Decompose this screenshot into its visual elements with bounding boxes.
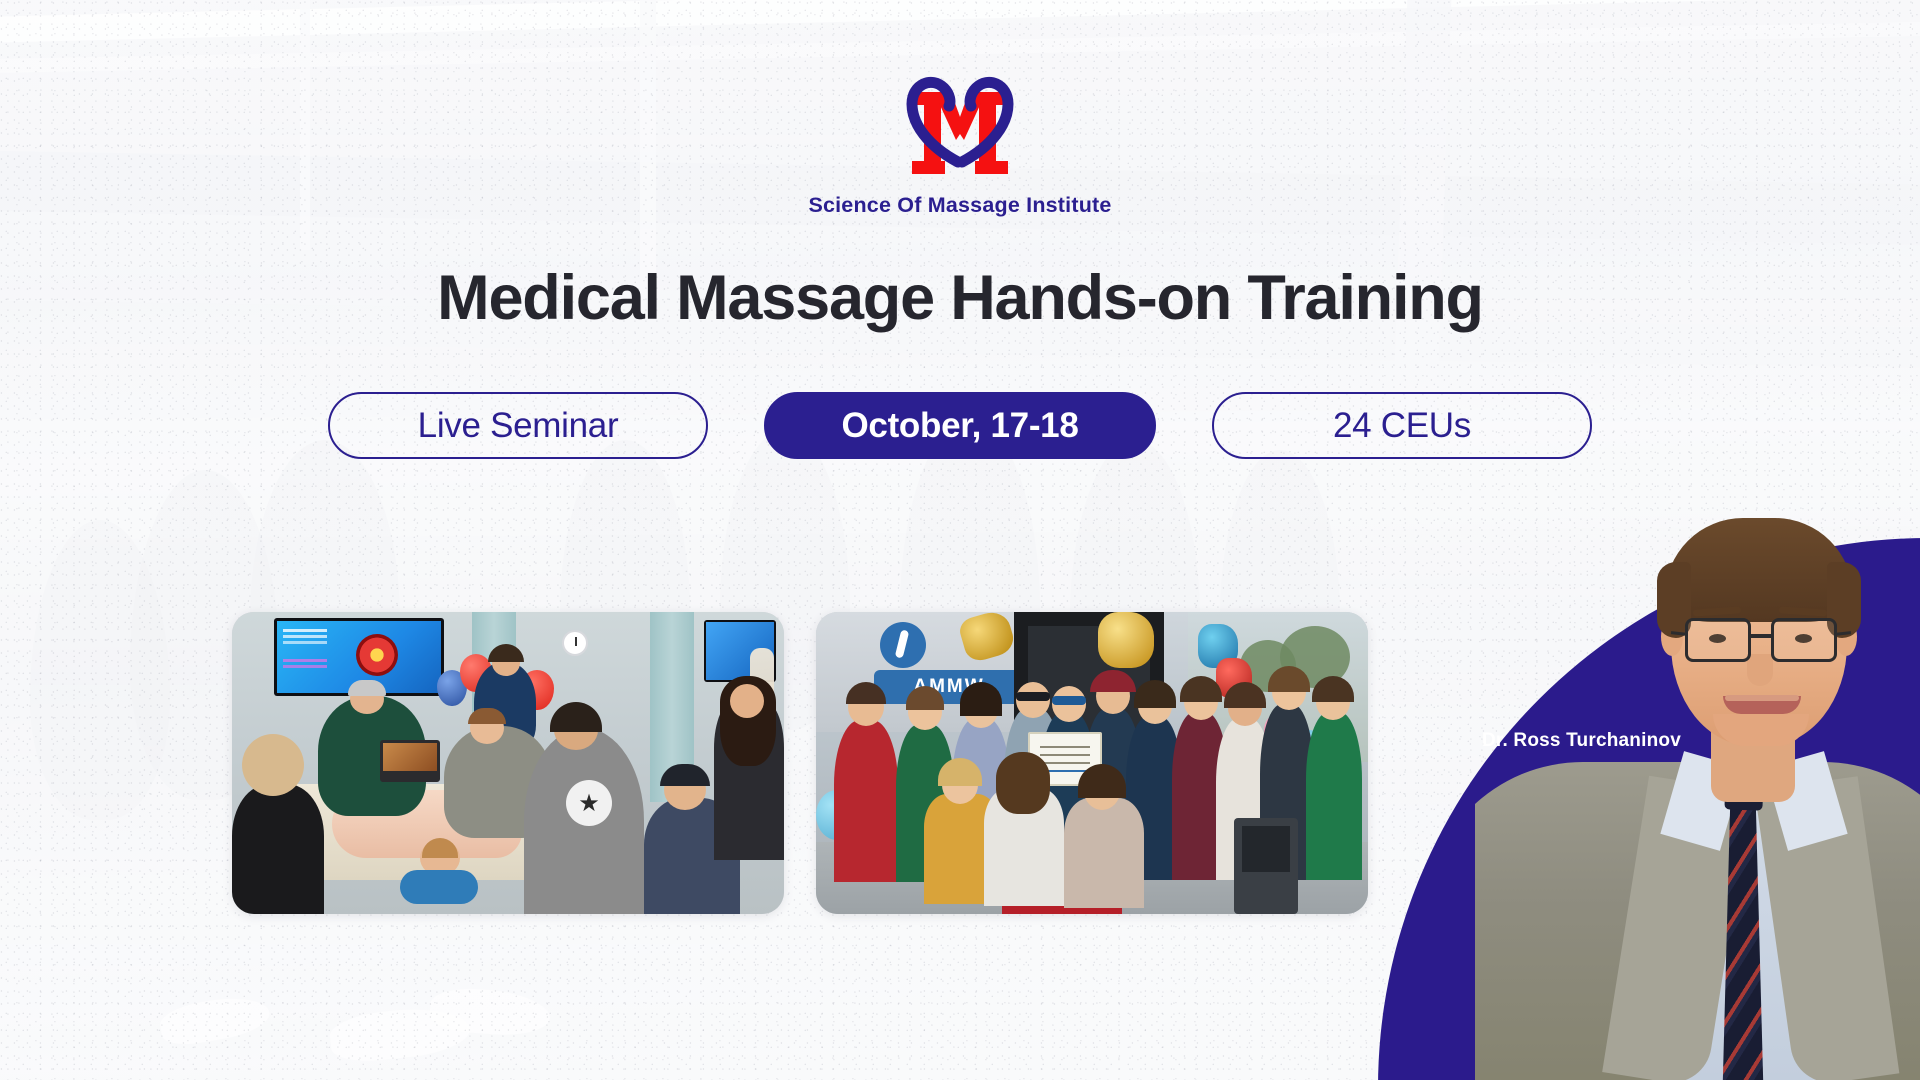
photo-group-celebration[interactable]: AMMW bbox=[816, 612, 1368, 914]
brand-name: Science Of Massage Institute bbox=[0, 193, 1920, 218]
sunglasses-icon bbox=[1052, 696, 1086, 705]
presenter-name: Dr. Ross Turchaninov bbox=[1482, 730, 1681, 752]
student-torso bbox=[232, 784, 324, 914]
upper-lip bbox=[1725, 695, 1799, 701]
balloon-gold-star bbox=[1098, 612, 1154, 668]
face-cradle bbox=[400, 870, 478, 904]
presenter-portrait bbox=[1475, 496, 1920, 1080]
sunglasses-icon bbox=[1016, 692, 1050, 701]
slide-text-lines bbox=[283, 629, 327, 632]
heart-hands-m-logo-icon bbox=[894, 62, 1026, 180]
eyeglasses-lens-right bbox=[1771, 618, 1837, 662]
student-head bbox=[242, 734, 304, 796]
attendee-kneeling-torso bbox=[1064, 798, 1144, 908]
attendee-torso bbox=[1306, 712, 1362, 880]
badge-live-seminar[interactable]: Live Seminar bbox=[328, 392, 708, 459]
badge-date[interactable]: October, 17-18 bbox=[764, 392, 1156, 459]
patio-chair bbox=[1234, 818, 1298, 914]
wall-clock bbox=[562, 630, 588, 656]
attendee-hair bbox=[996, 752, 1050, 814]
eyeglasses-lens-left bbox=[1685, 618, 1751, 662]
photo-gallery: AMMW bbox=[232, 612, 1368, 914]
page-title: Medical Massage Hands-on Training bbox=[0, 262, 1920, 334]
laptop bbox=[380, 740, 440, 782]
attendee-torso bbox=[834, 720, 898, 882]
eyeglasses-bridge bbox=[1751, 634, 1771, 638]
hair bbox=[1665, 518, 1853, 622]
storefront-logo-icon bbox=[880, 622, 926, 668]
badge-ceus[interactable]: 24 CEUs bbox=[1212, 392, 1592, 459]
anatomy-diagram bbox=[356, 634, 398, 676]
photo-classroom-training[interactable] bbox=[232, 612, 784, 914]
tshirt-graphic bbox=[566, 780, 612, 826]
nose bbox=[1747, 654, 1773, 686]
attendee-hair bbox=[960, 682, 1002, 716]
brand-logo-block: Science Of Massage Institute bbox=[0, 62, 1920, 218]
instructor-cap bbox=[348, 680, 386, 696]
badge-row: Live Seminar October, 17-18 24 CEUs bbox=[0, 392, 1920, 459]
student-head bbox=[730, 684, 764, 718]
